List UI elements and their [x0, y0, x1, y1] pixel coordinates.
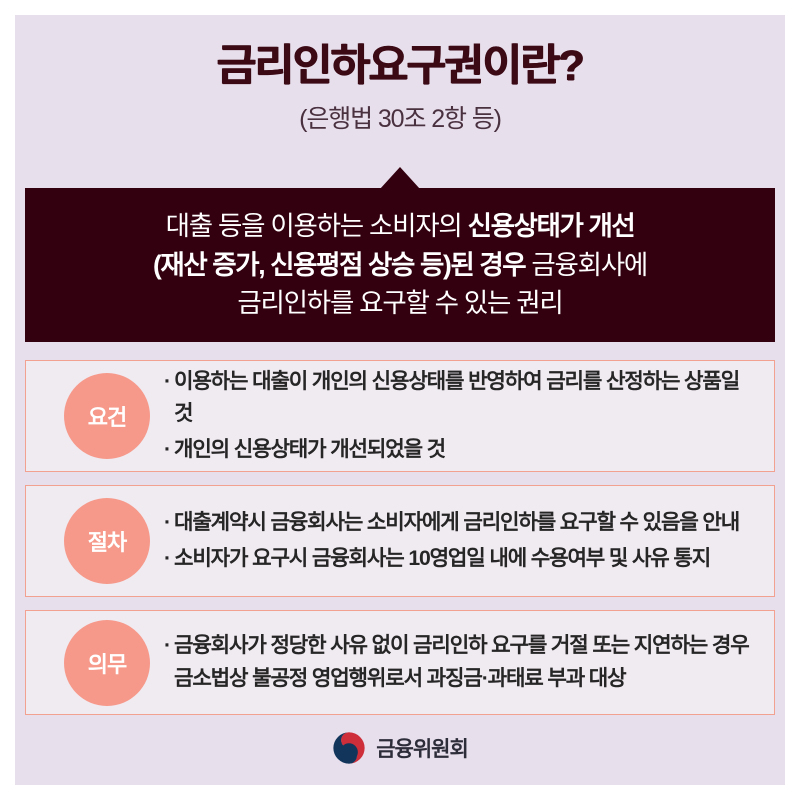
page-subtitle: (은행법 30조 2항 등) [15, 90, 785, 135]
list-item-text: 소비자가 요구시 금융회사는 10영업일 내에 수용여부 및 사유 통지 [174, 543, 756, 575]
definition-line2-emphasis: (재산 증가, 신용평점 상승 등)된 경우 [153, 250, 525, 280]
page-title: 금리인하요구권이란? [15, 15, 785, 90]
badge-label: 요건 [88, 400, 126, 432]
bullet-list: · 이용하는 대출이 개인의 신용상태를 반영하여 금리를 산정하는 상품일 것… [164, 366, 760, 466]
header-section: 금리인하요구권이란? (은행법 30조 2항 등) [15, 15, 785, 175]
badge-obligations: 의무 [64, 620, 150, 706]
bullet-dot-icon: · [164, 630, 173, 662]
infographic-poster: 금리인하요구권이란? (은행법 30조 2항 등) 대출 등을 이용하는 소비자… [15, 15, 785, 785]
list-item-text: 금융회사가 정당한 사유 없이 금리인하 요구를 거절 또는 지연하는 경우금소… [174, 630, 756, 694]
cards-section: 요건 · 이용하는 대출이 개인의 신용상태를 반영하여 금리를 산정하는 상품… [25, 360, 775, 728]
bullet-list: · 금융회사가 정당한 사유 없이 금리인하 요구를 거절 또는 지연하는 경우… [164, 630, 760, 694]
taegeuk-government-logo-icon [332, 731, 366, 765]
list-item: · 금융회사가 정당한 사유 없이 금리인하 요구를 거절 또는 지연하는 경우… [164, 630, 756, 694]
bullet-dot-icon: · [164, 366, 173, 398]
bullet-dot-icon: · [164, 507, 173, 539]
list-item: · 대출계약시 금융회사는 소비자에게 금리인하를 요구할 수 있음을 안내 [164, 507, 756, 539]
definition-line1-prefix: 대출 등을 이용하는 소비자의 [166, 211, 468, 241]
list-item-line2: 금소법상 불공정 영업행위로서 과징금·과태료 부과 대상 [174, 663, 756, 695]
bullet-list: · 대출계약시 금융회사는 소비자에게 금리인하를 요구할 수 있음을 안내 ·… [164, 507, 760, 574]
badge-procedure: 절차 [64, 498, 150, 584]
card-obligations: 의무 · 금융회사가 정당한 사유 없이 금리인하 요구를 거절 또는 지연하는… [25, 610, 775, 715]
card-procedure: 절차 · 대출계약시 금융회사는 소비자에게 금리인하를 요구할 수 있음을 안… [25, 485, 775, 597]
list-item: · 이용하는 대출이 개인의 신용상태를 반영하여 금리를 산정하는 상품일 것 [164, 366, 756, 430]
arrow-up-icon [380, 167, 420, 189]
list-item-text: 이용하는 대출이 개인의 신용상태를 반영하여 금리를 산정하는 상품일 것 [174, 366, 756, 430]
definition-line2-suffix: 금융회사에 [525, 250, 647, 280]
list-item: · 소비자가 요구시 금융회사는 10영업일 내에 수용여부 및 사유 통지 [164, 543, 756, 575]
bullet-dot-icon: · [164, 434, 173, 466]
badge-label: 절차 [88, 525, 126, 557]
list-item-text: 개인의 신용상태가 개선되었을 것 [174, 434, 756, 466]
definition-text: 대출 등을 이용하는 소비자의 신용상태가 개선 (재산 증가, 신용평점 상승… [137, 207, 663, 324]
footer-section: 금융위원회 [15, 731, 785, 765]
bullet-dot-icon: · [164, 543, 173, 575]
definition-line1-emphasis: 신용상태가 개선 [468, 211, 635, 241]
badge-label: 의무 [88, 647, 126, 679]
list-item: · 개인의 신용상태가 개선되었을 것 [164, 434, 756, 466]
definition-line3: 금리인하를 요구할 수 있는 권리 [237, 288, 562, 318]
list-item-text: 대출계약시 금융회사는 소비자에게 금리인하를 요구할 수 있음을 안내 [174, 507, 756, 539]
list-item-line1: 금융회사가 정당한 사유 없이 금리인하 요구를 거절 또는 지연하는 경우 [174, 634, 749, 657]
card-requirements: 요건 · 이용하는 대출이 개인의 신용상태를 반영하여 금리를 산정하는 상품… [25, 360, 775, 472]
badge-requirements: 요건 [64, 373, 150, 459]
definition-banner: 대출 등을 이용하는 소비자의 신용상태가 개선 (재산 증가, 신용평점 상승… [25, 188, 775, 342]
agency-name: 금융위원회 [376, 733, 468, 763]
